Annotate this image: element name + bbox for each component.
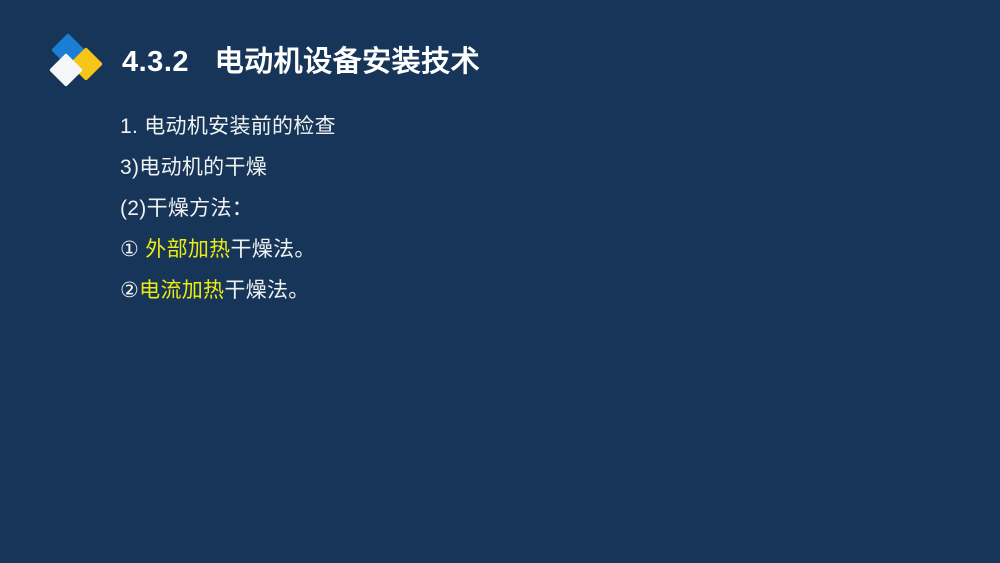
page-title: 4.3.2 电动机设备安装技术 bbox=[122, 48, 480, 77]
slide-body: 1. 电动机安装前的检查3)电动机的干燥(2)干燥方法：① 外部加热干燥法。②电… bbox=[120, 106, 900, 311]
highlighted-text: 电流加热 bbox=[139, 279, 224, 302]
plain-text: 干燥法。 bbox=[230, 238, 315, 261]
plain-text: ① bbox=[120, 238, 145, 261]
body-line-1: 1. 电动机安装前的检查 bbox=[120, 106, 900, 147]
plain-text: ② bbox=[120, 279, 139, 302]
slide-title-row: 4.3.2 电动机设备安装技术 bbox=[50, 33, 480, 91]
slide-canvas: 4.3.2 电动机设备安装技术 1. 电动机安装前的检查3)电动机的干燥(2)干… bbox=[0, 0, 1000, 563]
body-line-3: (2)干燥方法： bbox=[120, 188, 900, 229]
plain-text: 1. 电动机安装前的检查 bbox=[120, 115, 336, 138]
body-line-5: ②电流加热干燥法。 bbox=[120, 270, 900, 311]
highlighted-text: 外部加热 bbox=[145, 238, 230, 261]
plain-text: 3)电动机的干燥 bbox=[120, 156, 267, 179]
three-diamonds-icon bbox=[50, 34, 102, 90]
body-line-2: 3)电动机的干燥 bbox=[120, 147, 900, 188]
body-line-4: ① 外部加热干燥法。 bbox=[120, 229, 900, 270]
plain-text: (2)干燥方法： bbox=[120, 197, 253, 220]
plain-text: 干燥法。 bbox=[224, 279, 309, 302]
